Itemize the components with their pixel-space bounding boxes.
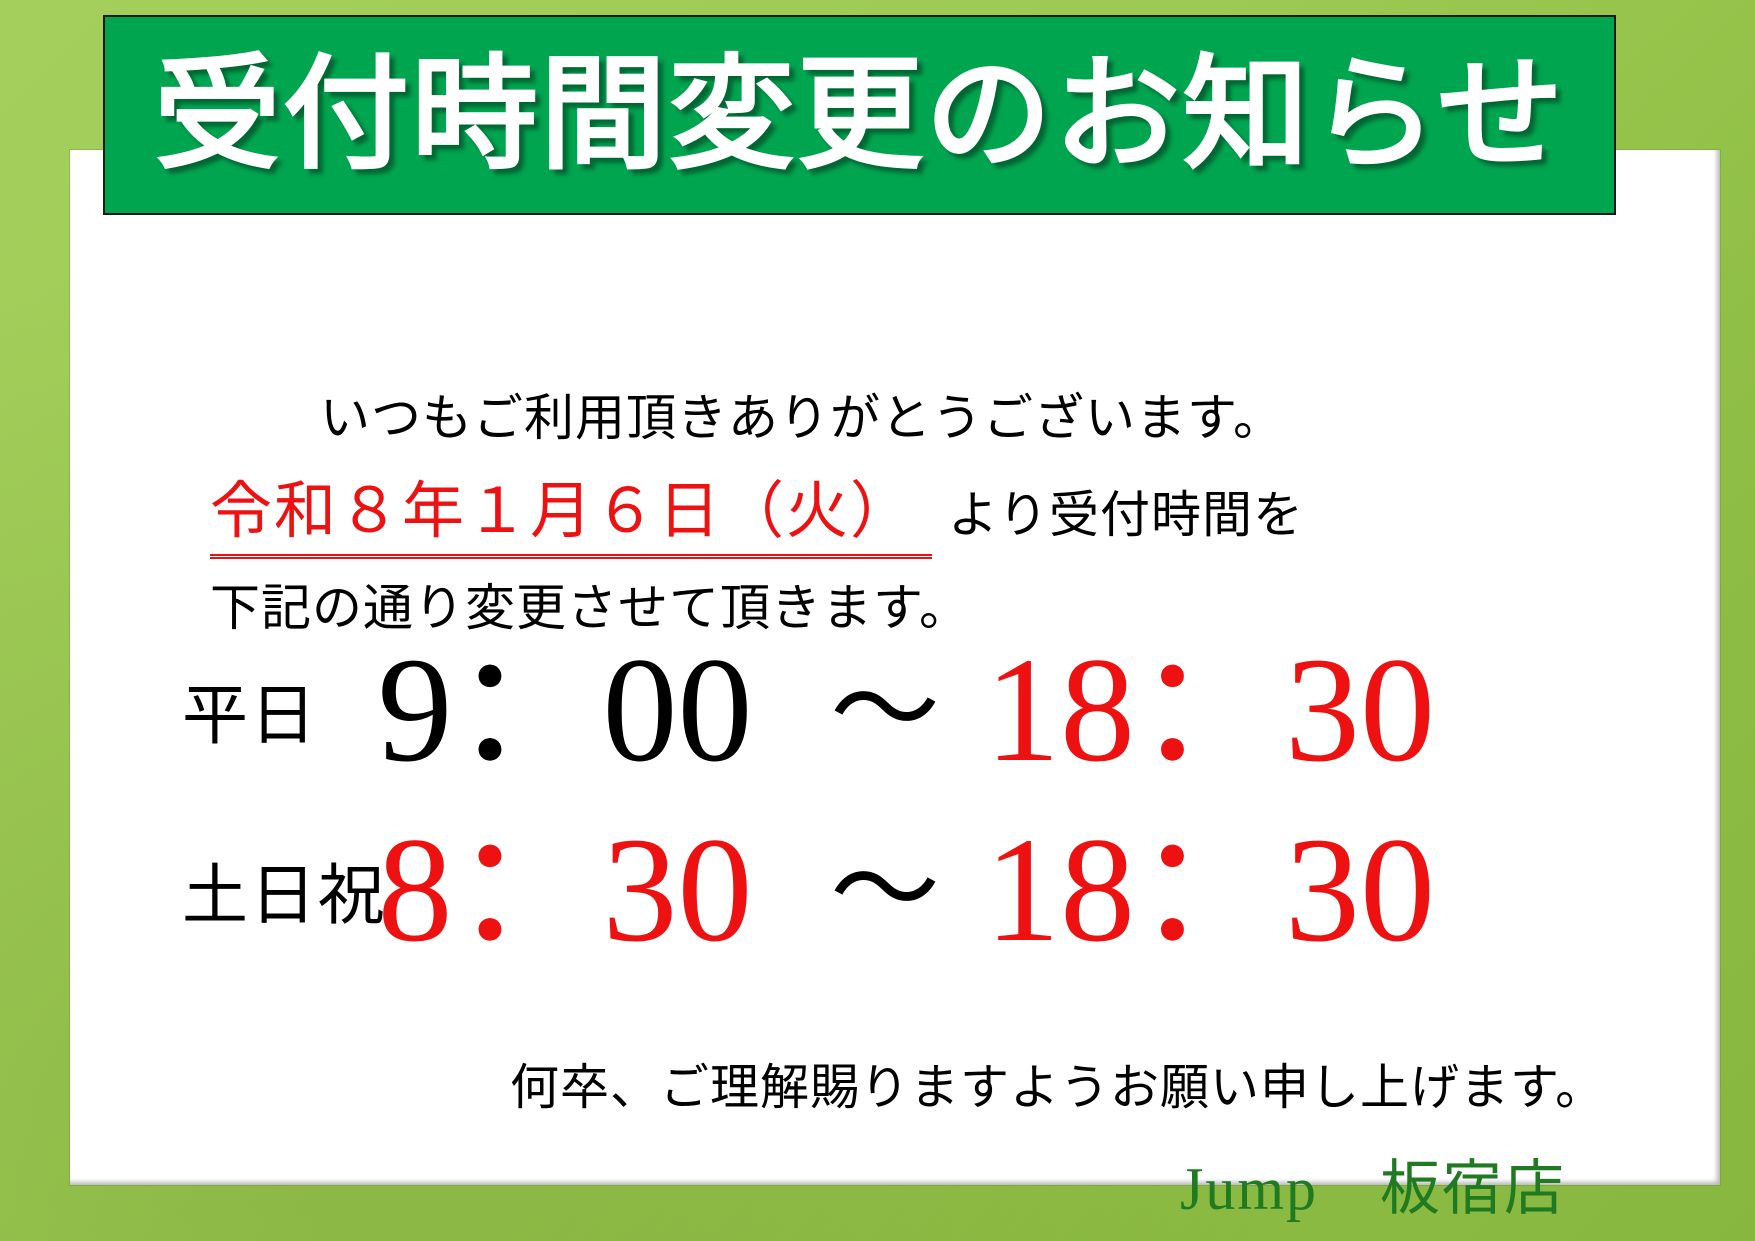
hours-row-weekday: 平日 9：00 ～ 18：30 — [70, 620, 1720, 800]
hours-row-weekend: 土日祝 8：30 ～ 18：30 — [70, 800, 1720, 980]
close-time-weekend: 18：30 — [970, 815, 1450, 965]
open-time-weekday: 9：00 — [330, 635, 800, 785]
white-content-panel: いつもご利用頂きありがとうございます。 令和８年１月６日（火） より受付時間を … — [70, 150, 1720, 1185]
day-label-weekday: 平日 — [70, 662, 330, 758]
panel-bottom-highlight — [70, 1179, 1720, 1187]
effective-date-line: 令和８年１月６日（火） より受付時間を — [210, 460, 1304, 559]
hours-table: 平日 9：00 ～ 18：30 土日祝 8：30 ～ 18：30 — [70, 620, 1720, 980]
effective-date-highlight: 令和８年１月６日（火） — [210, 460, 932, 559]
tilde-separator-weekend: ～ — [800, 835, 970, 945]
open-time-weekend: 8：30 — [330, 815, 800, 965]
closing-message: 何卒、ご理解賜りますようお願い申し上げます。 — [510, 1048, 1605, 1119]
tilde-separator-weekday: ～ — [800, 655, 970, 765]
title-banner: 受付時間変更のお知らせ — [103, 15, 1616, 215]
notice-poster: いつもご利用頂きありがとうございます。 令和８年１月６日（火） より受付時間を … — [0, 0, 1755, 1241]
close-time-weekday: 18：30 — [970, 635, 1450, 785]
banner-title-text: 受付時間変更のお知らせ — [154, 53, 1565, 177]
day-label-weekend: 土日祝 — [70, 842, 330, 938]
greeting-line: いつもご利用頂きありがとうございます。 — [320, 378, 1284, 450]
effective-date-tail: より受付時間を — [948, 475, 1304, 547]
